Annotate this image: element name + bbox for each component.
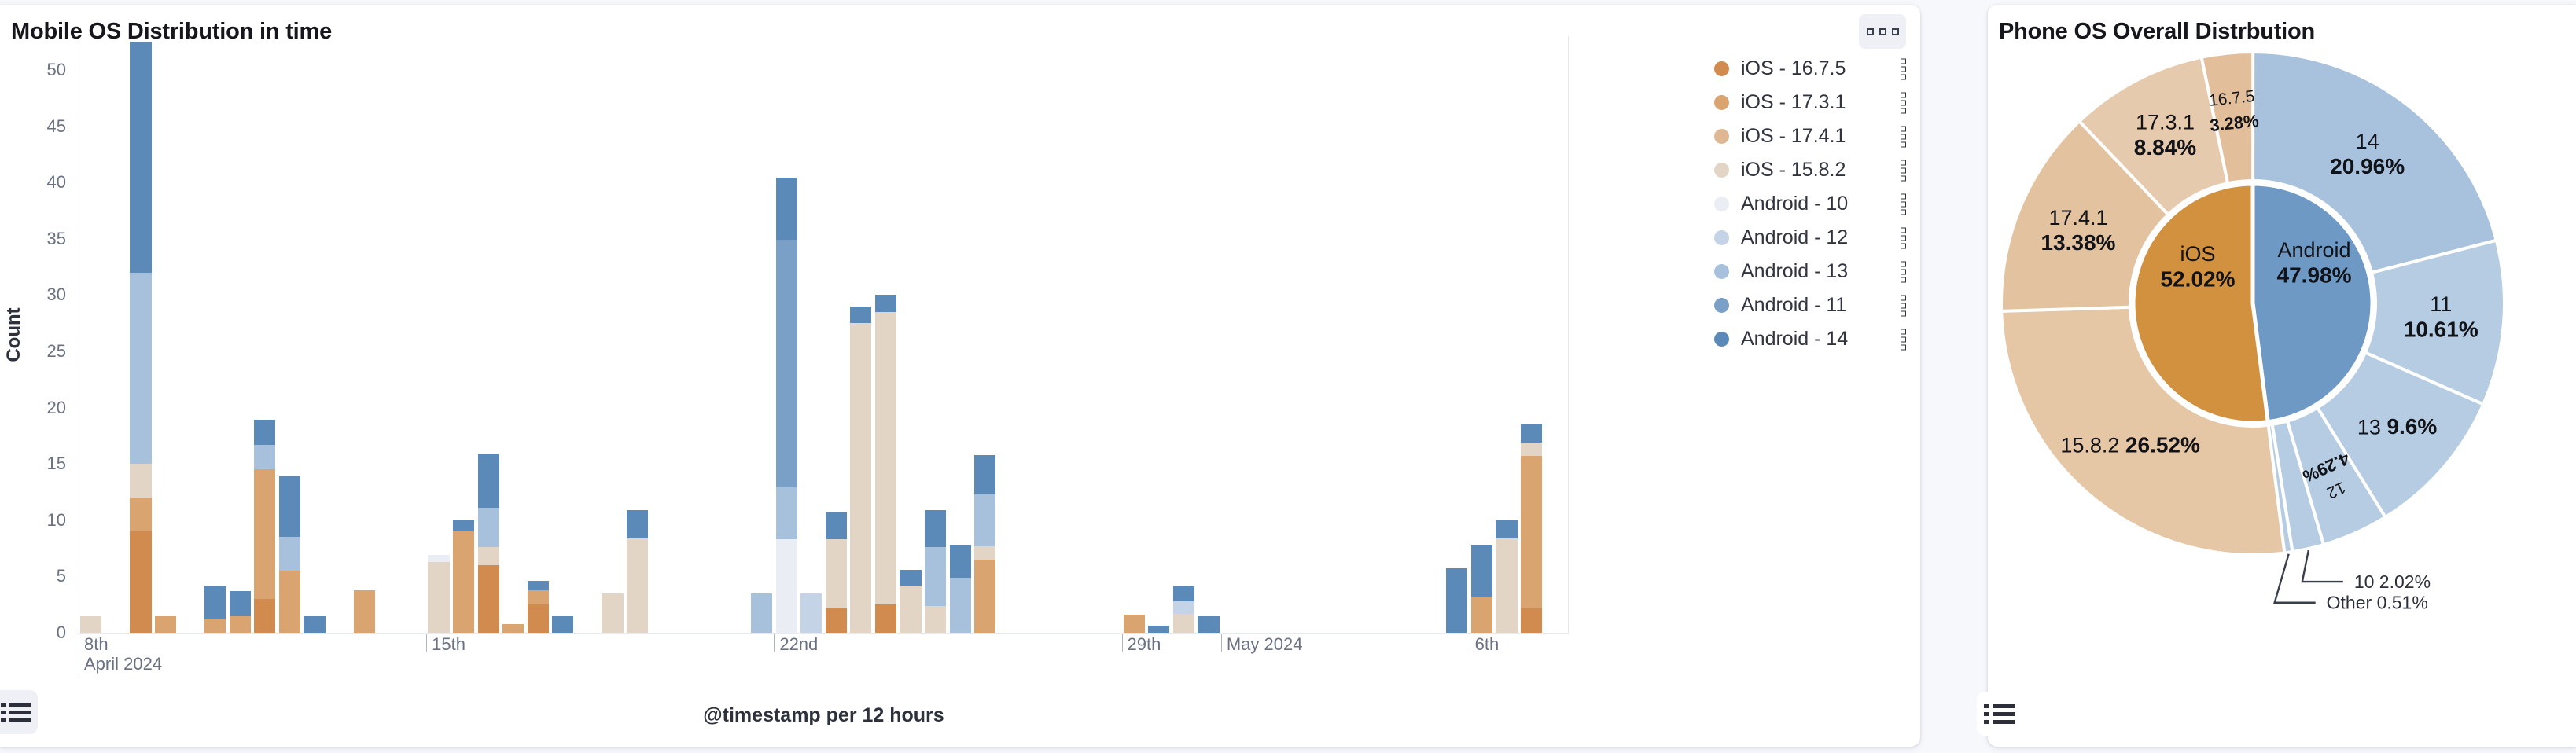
bar-segment [478,547,499,565]
bar-stack[interactable] [502,624,524,633]
bar-segment [254,445,275,470]
bar-stack[interactable] [528,581,549,633]
x-axis-tick-label: May 2024 [1221,634,1303,652]
bar-segment [453,520,474,531]
bar-stack[interactable] [354,590,375,633]
bar-segment [925,510,946,547]
svg-text:15.8.2 26.52%: 15.8.2 26.52% [2060,433,2200,457]
bar-stack[interactable] [204,586,226,633]
bar-segment [453,531,474,633]
legend-item-label: Android - 13 [1741,260,1848,283]
panel-phone-os-overall: Phone OS Overall Distrbution Android47.9… [1988,5,2576,747]
x-tick-primary: 29th [1128,634,1161,654]
x-axis-tick-label: 6th [1470,634,1500,652]
legend-item[interactable]: iOS - 17.3.1 [1714,86,1911,119]
bar-segment [826,539,847,608]
svg-text:11: 11 [2430,292,2452,316]
drag-handle-icon[interactable] [1901,126,1906,147]
bar-segment [950,578,971,633]
bar-segment [875,604,896,633]
leader-line [2275,554,2316,603]
y-axis-ticks: 05101520253035404550 [25,5,66,747]
bar-segment [130,273,151,464]
bar-segment [1173,614,1194,633]
bar-stack[interactable] [602,593,623,633]
list-icon [1,703,31,722]
y-axis-tick-label: 35 [25,229,66,249]
bar-segment [925,547,946,605]
drag-handle-icon[interactable] [1901,92,1906,113]
bar-segment [279,571,300,633]
donut-svg: Android47.98%iOS52.02%15.8.2 26.52%17.4.… [1988,44,2576,704]
bar-segment [279,476,300,538]
bar-segment [974,494,995,546]
bar-stack[interactable] [974,455,995,633]
x-axis-tick-label: 15th [426,634,466,652]
y-axis-tick-label: 20 [25,398,66,418]
drag-handle-icon[interactable] [1901,160,1906,181]
bar-segment [900,586,921,633]
y-axis-title: Count [3,307,25,362]
svg-text:14: 14 [2356,130,2379,153]
y-axis-tick-label: 30 [25,285,66,305]
bar-segment [254,469,275,599]
bar-stack[interactable] [254,420,275,633]
bar-segment [776,240,797,487]
legend-item-label: Android - 14 [1741,328,1848,351]
bar-segment [826,512,847,539]
svg-text:13.38%: 13.38% [2041,230,2115,255]
bar-segment [80,616,101,633]
drag-handle-icon[interactable] [1901,227,1906,248]
bar-stack[interactable] [1124,615,1145,633]
bar-chart: Count 05101520253035404550 8thApril 2024… [0,5,1920,747]
bar-segment [1521,456,1542,608]
leader-line [2302,550,2343,582]
bar-stack[interactable] [776,178,797,633]
bar-segment [950,545,971,578]
bar-segment [1124,615,1145,633]
svg-text:47.98%: 47.98% [2277,263,2352,287]
bar-segment [776,487,797,539]
bar-segment [875,295,896,311]
slice-label: 13 9.6% [2357,415,2437,439]
bar-stack[interactable] [80,616,101,633]
bar-segment [751,593,772,633]
bar-stack[interactable] [1173,586,1194,633]
legend-item-label: iOS - 16.7.5 [1741,57,1846,80]
bar-segment [155,616,176,633]
bar-segment [528,581,549,590]
x-tick-primary: 6th [1475,634,1500,654]
bar-stack[interactable] [1198,616,1219,633]
legend-item[interactable]: iOS - 17.4.1 [1714,119,1911,153]
legend-toggle-button[interactable] [0,690,38,734]
slice-outside-label: Other 0.51% [2327,593,2428,613]
svg-text:Android: Android [2277,238,2350,262]
bar-segment [1173,601,1194,614]
dashboard: Mobile OS Distribution in time Count 051… [0,0,2576,753]
bar-segment [974,560,995,633]
bar-stack[interactable] [552,616,573,633]
legend-item-label: Android - 11 [1741,294,1846,317]
slice-label: 15.8.2 26.52% [2060,433,2200,457]
bar-segment [1521,443,1542,456]
bar-stack[interactable] [1496,520,1517,633]
legend-item[interactable]: iOS - 16.7.5 [1714,52,1911,86]
bar-stack[interactable] [304,616,325,633]
bar-segment [130,498,151,531]
x-tick-primary: May 2024 [1227,634,1303,654]
bar-segment [1198,616,1219,633]
bar-segment [354,590,375,633]
bar-segment [1496,520,1517,538]
x-axis-tick-label: 22nd [774,634,818,652]
bar-stack[interactable] [826,512,847,633]
bar-segment [1446,568,1467,633]
bar-segment [502,624,524,633]
legend-swatch-icon [1714,95,1729,110]
bar-segment [528,590,549,605]
bar-stack[interactable] [230,591,251,633]
bar-segment [800,593,822,633]
bar-segment [130,531,151,633]
bar-stack[interactable] [1148,626,1169,633]
legend-swatch-icon [1714,129,1729,144]
bar-segment [925,606,946,633]
bar-stack[interactable] [478,454,499,633]
legend-swatch-icon [1714,197,1729,211]
bar-stack[interactable] [130,42,151,633]
svg-text:iOS: iOS [2180,242,2215,266]
bar-segment [1173,586,1194,601]
legend-swatch-icon [1714,298,1729,313]
bar-stack[interactable] [1471,545,1492,633]
x-axis-tick-label: 8thApril 2024 [79,634,162,677]
svg-text:17.4.1: 17.4.1 [2048,206,2107,230]
slice-outside-label: 10 2.02% [2354,571,2431,592]
panel-mobile-os-distribution: Mobile OS Distribution in time Count 051… [0,5,1920,747]
bar-segment [900,570,921,586]
svg-text:17.3.1: 17.3.1 [2136,111,2195,134]
x-tick-primary: 22nd [779,634,818,654]
legend-item[interactable]: Android - 10 [1714,187,1911,221]
legend-item-label: iOS - 15.8.2 [1741,159,1846,182]
legend-item[interactable]: Android - 14 [1714,322,1911,356]
legend-item[interactable]: iOS - 15.8.2 [1714,153,1911,187]
y-axis-tick-label: 45 [25,116,66,137]
bar-stack[interactable] [950,545,971,633]
bar-stack[interactable] [453,520,474,633]
drag-handle-icon[interactable] [1901,193,1906,215]
svg-text:20.96%: 20.96% [2330,154,2405,178]
bar-segment [776,178,797,240]
slice-label: Android47.98% [2277,238,2352,287]
x-tick-primary: 15th [432,634,466,654]
bar-segment [478,565,499,633]
legend-swatch-icon [1714,230,1729,245]
bar-segment [428,555,449,562]
drag-handle-icon[interactable] [1901,329,1906,350]
y-axis-tick-label: 10 [25,510,66,531]
bar-stack[interactable] [900,570,921,633]
y-axis-tick-label: 50 [25,60,66,80]
svg-text:8.84%: 8.84% [2134,135,2196,160]
bar-segment [875,312,896,604]
y-axis-tick-label: 40 [25,172,66,193]
bar-stack[interactable] [1446,568,1467,633]
x-tick-primary: 8th [84,634,162,654]
bar-segment [1471,545,1492,597]
legend-swatch-icon [1714,163,1729,178]
donut-chart[interactable]: Android47.98%iOS52.02%15.8.2 26.52%17.4.… [1988,44,2576,704]
bar-segment [850,307,871,323]
bar-segment [230,616,251,633]
legend-item[interactable]: Android - 12 [1714,221,1911,255]
bar-segment [130,464,151,498]
bar-segment [528,604,549,633]
bar-segment [850,323,871,633]
legend-item-label: Android - 12 [1741,226,1848,249]
bar-stack[interactable] [925,510,946,633]
slice-label: 17.4.113.38% [2041,206,2115,255]
bar-stack[interactable] [627,510,648,633]
bar-segment [428,562,449,633]
bar-segment [279,537,300,571]
bar-stack[interactable] [850,307,871,633]
legend-item-label: Android - 10 [1741,193,1848,215]
drag-handle-icon[interactable] [1901,295,1906,316]
legend-item-label: iOS - 17.4.1 [1741,125,1846,148]
bar-segment [826,608,847,634]
legend-toggle-button[interactable] [1977,692,2021,736]
bar-stack[interactable] [751,593,772,633]
svg-text:13 9.6%: 13 9.6% [2357,415,2437,439]
bar-segment [552,616,573,633]
slice-label: 17.3.18.84% [2134,111,2196,160]
bar-plot-area[interactable] [79,36,1569,633]
bar-segment [230,591,251,616]
y-axis-tick-label: 0 [25,623,66,643]
y-axis-tick-label: 25 [25,341,66,362]
drag-handle-icon[interactable] [1901,261,1906,282]
bar-stack[interactable] [800,593,822,633]
bar-segment [478,454,499,508]
bar-segment [974,546,995,560]
legend-swatch-icon [1714,264,1729,279]
y-axis-tick-label: 15 [25,454,66,474]
bar-segment [776,539,797,633]
axis-line-bottom [79,633,1569,634]
bar-segment [204,619,226,633]
bar-stack[interactable] [1521,424,1542,633]
bar-stack[interactable] [875,295,896,633]
bar-segment [1471,597,1492,633]
bar-stack[interactable] [428,555,449,633]
bar-stack[interactable] [279,476,300,633]
chart-legend: iOS - 16.7.5iOS - 17.3.1iOS - 17.4.1iOS … [1714,52,1911,356]
bar-segment [478,508,499,547]
legend-swatch-icon [1714,61,1729,76]
drag-handle-icon[interactable] [1901,58,1906,79]
bar-segment [974,455,995,494]
bar-segment [304,616,325,633]
bar-stack[interactable] [155,616,176,633]
svg-text:52.02%: 52.02% [2161,266,2236,291]
x-axis-tick-label: 29th [1122,634,1161,652]
x-tick-secondary: April 2024 [84,654,162,674]
bar-segment [627,510,648,538]
bar-segment [1496,538,1517,633]
legend-item[interactable]: Android - 13 [1714,255,1911,288]
bar-segment [204,586,226,619]
svg-text:10.61%: 10.61% [2404,317,2478,341]
y-axis-tick-label: 5 [25,566,66,586]
list-icon [1984,704,2015,724]
bar-segment [1521,424,1542,443]
bar-segment [627,538,648,633]
bar-segment [254,420,275,445]
legend-item[interactable]: Android - 11 [1714,288,1911,322]
bar-segment [130,42,151,273]
bar-segment [602,593,623,633]
page-title: Phone OS Overall Distrbution [1999,19,2315,45]
legend-swatch-icon [1714,332,1729,347]
x-axis-title: @timestamp per 12 hours [79,704,1569,727]
legend-item-label: iOS - 17.3.1 [1741,91,1846,114]
bar-segment [1148,626,1169,633]
bar-segment [1521,608,1542,634]
bar-segment [254,599,275,633]
